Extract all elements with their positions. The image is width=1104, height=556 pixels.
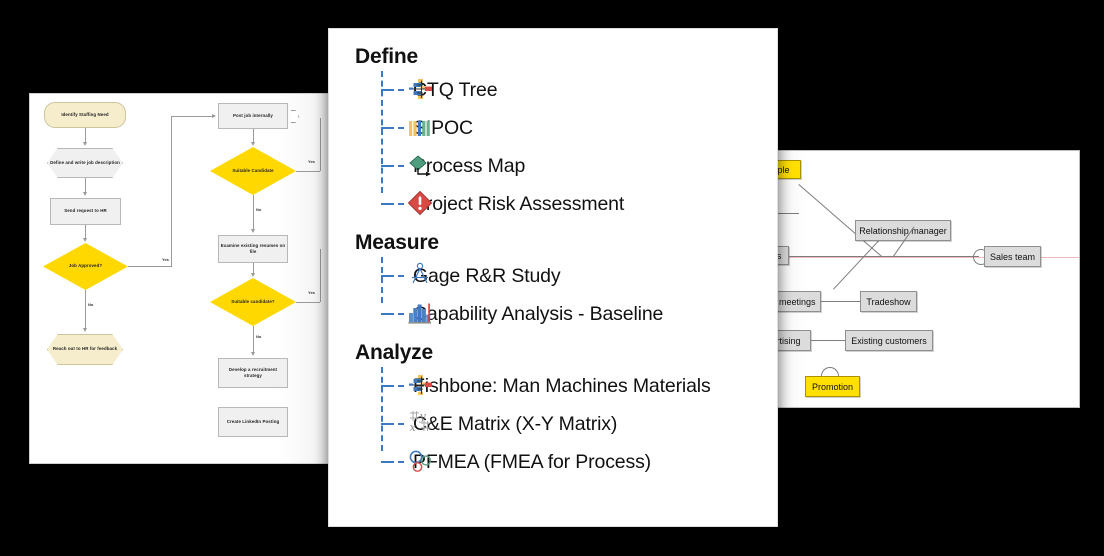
flow-node-send-request-to-hr[interactable]: Send request to HR — [50, 198, 121, 225]
flow-connector — [171, 116, 213, 117]
flow-edge-label-approved-yes: Yes — [162, 257, 169, 262]
svg-text:x: x — [410, 421, 417, 434]
flow-node-label: Identify Staffing Need — [61, 112, 108, 118]
fishbone-box-label: ple — [777, 165, 789, 175]
tool-item-label: Capability Analysis - Baseline — [413, 303, 663, 326]
tool-group-measure: Measure Gage R&R Study — [355, 231, 759, 339]
flow-arrow-down-icon — [83, 142, 87, 146]
fishbone-box-label: Sales team — [990, 252, 1035, 262]
tool-item-project-risk-assessment[interactable]: Project Risk Assessment — [355, 185, 759, 223]
tree-tick — [381, 127, 394, 129]
fishbone-rib — [789, 256, 979, 257]
flow-connector — [296, 171, 320, 172]
fishbone-tree-icon — [407, 373, 433, 399]
flow-connector — [85, 290, 86, 330]
tool-item-capability-analysis-baseline[interactable]: Capability Analysis - Baseline — [355, 295, 759, 333]
flow-node-label: Examine existing resumes on file — [220, 243, 286, 256]
compass-divider-icon — [407, 262, 433, 288]
flow-node-suitable-candidate-2[interactable]: Suitable candidate? — [210, 278, 296, 326]
tool-item-process-map[interactable]: Process Map — [355, 147, 759, 185]
flow-connector — [171, 116, 172, 267]
tool-items-analyze: Fishbone: Man Machines Materials y x — [355, 367, 759, 487]
tree-dash — [398, 275, 404, 277]
histogram-icon — [407, 300, 433, 326]
tool-item-label: Gage R&R Study — [413, 265, 560, 288]
tree-corner — [381, 313, 394, 315]
tool-group-define: Define — [355, 45, 759, 229]
fishbone-box-sales-team[interactable]: Sales team — [984, 246, 1041, 267]
fishbone-box-promotion[interactable]: Promotion — [805, 376, 860, 397]
flow-edge-label-candidate1-yes: Yes — [308, 159, 315, 164]
flow-arrow-down-icon — [83, 238, 87, 242]
fishbone-box-tradeshow[interactable]: Tradeshow — [860, 291, 917, 312]
ctq-tree-icon — [407, 77, 433, 103]
flow-arrow-right-icon — [212, 114, 216, 118]
tree-tick — [381, 385, 394, 387]
flow-node-label: Post job internally — [233, 113, 273, 119]
fishbone-rib — [811, 340, 846, 341]
flow-node-label: Send request to HR — [64, 208, 107, 214]
flow-edge-label-candidate1-no: No — [256, 207, 261, 212]
tool-item-label: Project Risk Assessment — [413, 193, 624, 216]
flow-connector — [253, 195, 254, 231]
flow-connector — [253, 326, 254, 354]
tree-tick — [381, 165, 394, 167]
flow-node-label: Reach out to HR for feedback — [53, 346, 117, 352]
flow-node-label: Job Approved? — [69, 263, 102, 269]
tree-tick — [381, 423, 394, 425]
flow-node-reach-out-to-hr[interactable]: Reach out to HR for feedback — [47, 334, 123, 365]
flow-arrow-down-icon — [251, 229, 255, 233]
tool-item-gage-rr-study[interactable]: Gage R&R Study — [355, 257, 759, 295]
tools-list-panel[interactable]: Define — [328, 28, 778, 527]
tool-item-label: PFMEA (FMEA for Process) — [413, 451, 651, 474]
flow-node-examine-existing-resumes[interactable]: Examine existing resumes on file — [218, 235, 288, 263]
flow-node-label: Create LinkedIn Posting — [227, 419, 280, 425]
flow-node-label: Develop a recruitment strategy — [220, 367, 286, 380]
fishbone-box-relationship-manager[interactable]: Relationship manager — [855, 220, 951, 241]
svg-text:y: y — [419, 410, 427, 423]
tool-items-define: CTQ Tree SIPOC — [355, 71, 759, 229]
group-title-analyze: Analyze — [355, 341, 759, 365]
tool-item-label: C&E Matrix (X-Y Matrix) — [413, 413, 617, 436]
flowchart-window[interactable]: Identify Staffing Need Define and write … — [29, 93, 333, 464]
pfmea-circles-icon — [407, 448, 433, 474]
fishbone-window[interactable]: ple ers Relationship manager Sales team … — [762, 150, 1080, 408]
tool-item-ce-matrix[interactable]: y x C&E Matrix (X-Y Matrix) — [355, 405, 759, 443]
flow-arrow-down-icon — [83, 192, 87, 196]
flow-connector — [128, 266, 171, 267]
flow-node-identify-staffing-need[interactable]: Identify Staffing Need — [44, 102, 126, 128]
tool-group-analyze: Analyze — [355, 341, 759, 487]
fishbone-box-label: Tradeshow — [866, 297, 910, 307]
tree-dash — [398, 313, 404, 315]
tree-dash — [398, 165, 404, 167]
tree-tick — [381, 89, 394, 91]
fishbone-box-existing-customers[interactable]: Existing customers — [845, 330, 933, 351]
flow-offpage-connector-icon — [291, 110, 299, 123]
tools-list-content: Define — [329, 29, 777, 499]
fishbone-box-label: Promotion — [812, 382, 853, 392]
flow-node-develop-recruitment-strategy[interactable]: Develop a recruitment strategy — [218, 358, 288, 388]
flow-edge-label-approved-no: No — [88, 302, 93, 307]
tree-tick — [381, 275, 394, 277]
risk-warning-diamond-icon — [407, 190, 433, 216]
flow-node-job-approved[interactable]: Job Approved? — [43, 243, 128, 290]
flow-node-define-write-job-description[interactable]: Define and write job description — [47, 148, 123, 178]
flow-edge-label-candidate2-yes: Yes — [308, 290, 315, 295]
flow-node-post-job-internally[interactable]: Post job internally — [218, 103, 288, 129]
flow-node-label: Suitable candidate? — [231, 299, 274, 305]
tool-items-measure: Gage R&R Study — [355, 257, 759, 339]
flow-node-create-linkedin-posting[interactable]: Create LinkedIn Posting — [218, 407, 288, 437]
fishbone-box-label: Existing customers — [851, 336, 927, 346]
tree-dash — [398, 127, 404, 129]
flow-connector — [320, 249, 321, 302]
tool-item-sipoc[interactable]: SIPOC — [355, 109, 759, 147]
flow-node-suitable-candidate-1[interactable]: Suitable Candidate — [210, 147, 296, 195]
tool-item-label: Fishbone: Man Machines Materials — [413, 375, 711, 398]
sipoc-bars-icon — [407, 116, 433, 142]
tool-item-ctq-tree[interactable]: CTQ Tree — [355, 71, 759, 109]
tree-dash — [398, 89, 404, 91]
flow-arrow-down-icon — [251, 142, 255, 146]
flow-arrow-down-icon — [251, 352, 255, 356]
xy-matrix-icon: y x — [407, 409, 433, 435]
flow-connector — [296, 302, 320, 303]
tree-dash — [398, 423, 404, 425]
flow-node-label: Define and write job description — [50, 160, 120, 166]
tree-corner — [381, 203, 394, 205]
tree-dash — [398, 461, 404, 463]
tree-dash — [398, 385, 404, 387]
group-title-define: Define — [355, 45, 759, 69]
fishbone-rib — [821, 301, 861, 302]
flow-node-label: Suitable Candidate — [232, 168, 273, 174]
tool-item-pfmea[interactable]: PFMEA (FMEA for Process) — [355, 443, 759, 481]
fishbone-box-label: Relationship manager — [859, 226, 947, 236]
flow-edge-label-candidate2-no: No — [256, 334, 261, 339]
group-title-measure: Measure — [355, 231, 759, 255]
process-map-diamond-icon — [407, 153, 433, 179]
tree-dash — [398, 203, 404, 205]
flow-arrow-down-icon — [83, 328, 87, 332]
flow-connector — [320, 118, 321, 171]
flow-arrow-down-icon — [251, 273, 255, 277]
tree-corner — [381, 461, 394, 463]
tool-item-fishbone[interactable]: Fishbone: Man Machines Materials — [355, 367, 759, 405]
